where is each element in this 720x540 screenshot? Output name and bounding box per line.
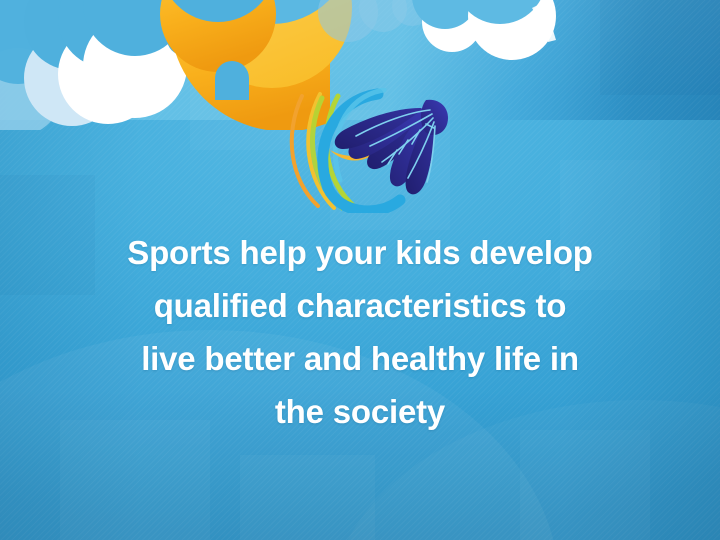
cloud-nub-blue: [215, 61, 249, 100]
headline-line-2: qualified characteristics to: [48, 279, 672, 332]
headline-line-4: the society: [48, 385, 672, 438]
slide-canvas: Sports help your kids develop qualified …: [0, 0, 720, 540]
badminton-shuttlecock-logo: [282, 88, 462, 213]
headline-line-3: live better and healthy life in: [48, 332, 672, 385]
headline-line-1: Sports help your kids develop: [48, 226, 672, 279]
slide-headline: Sports help your kids develop qualified …: [48, 226, 672, 438]
